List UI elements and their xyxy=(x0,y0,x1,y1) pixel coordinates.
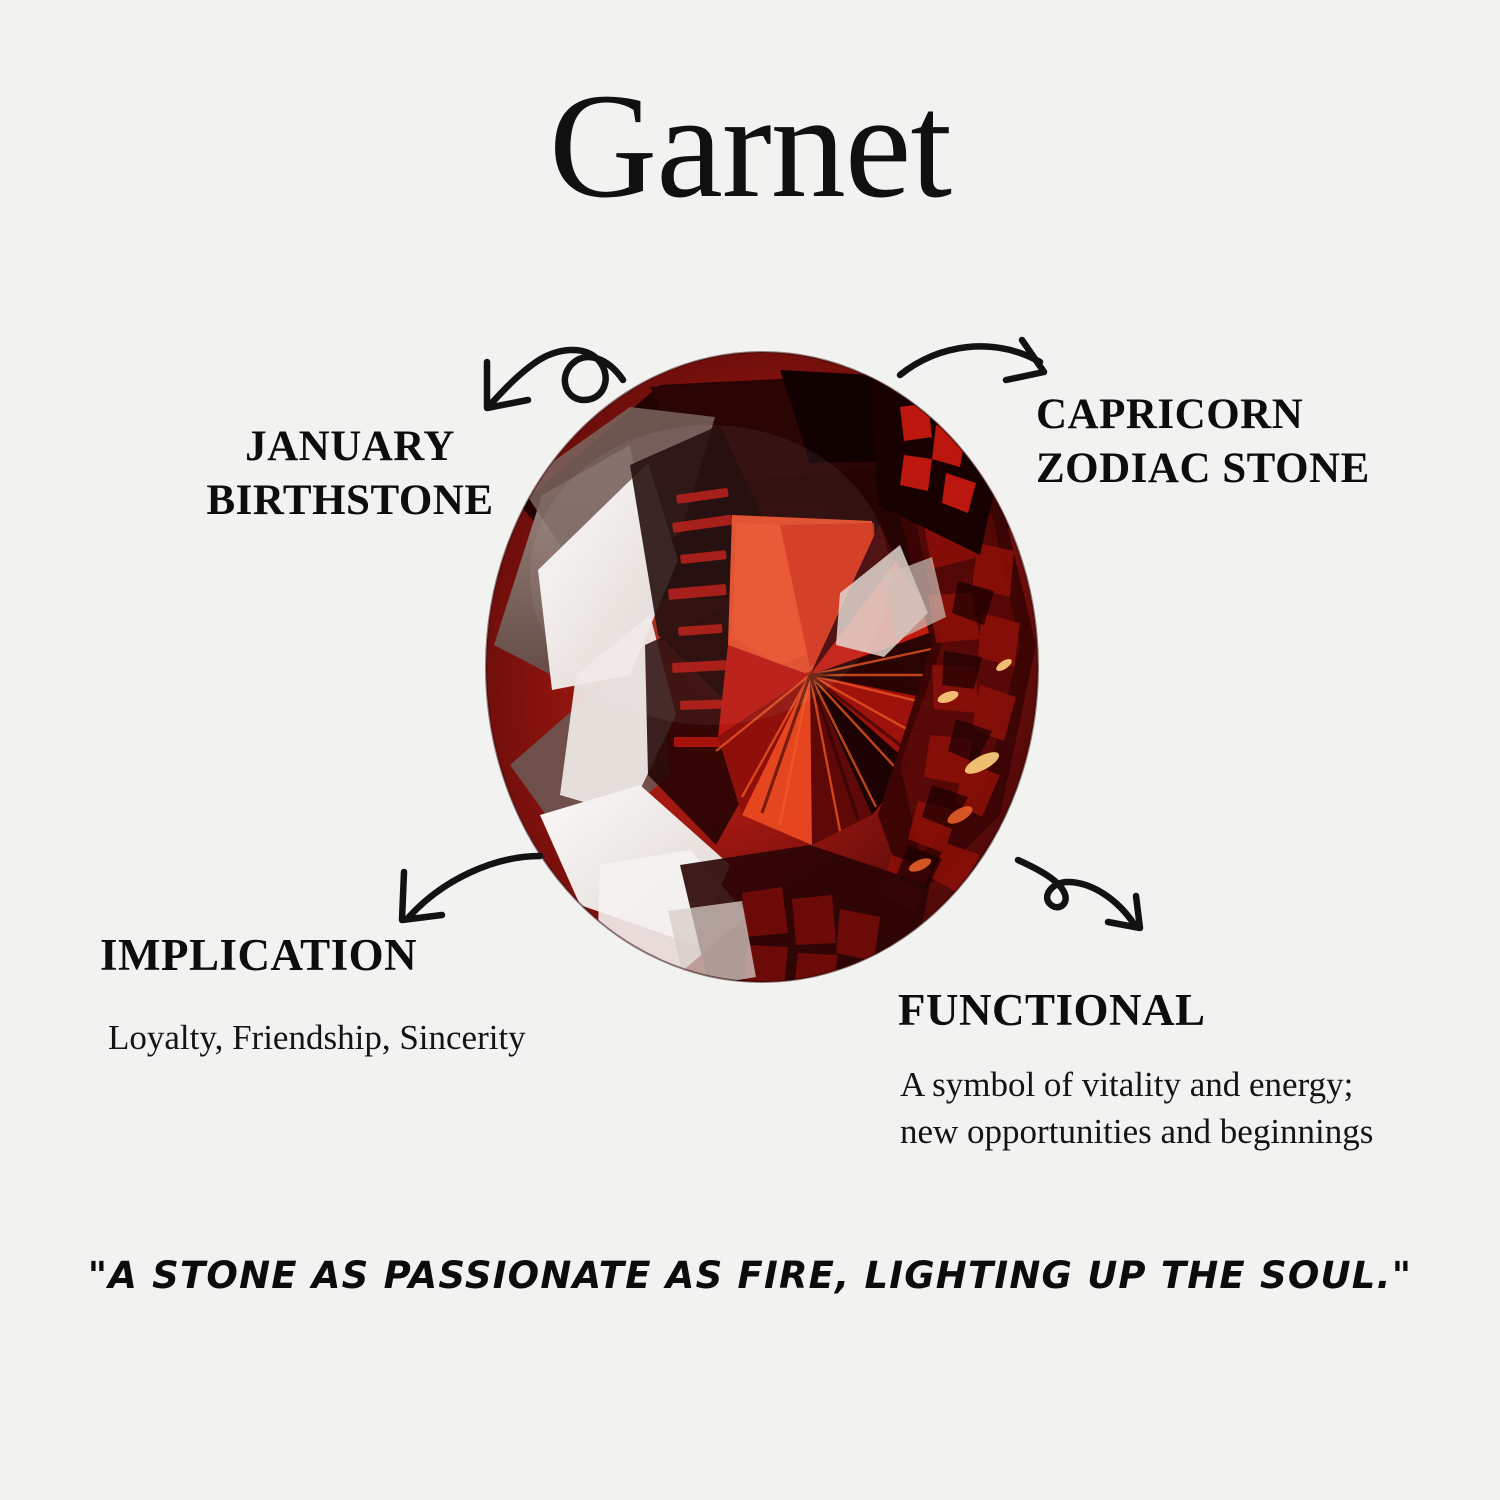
page-title: Garnet xyxy=(0,68,1500,226)
callout-functional-body: A symbol of vitality and energy; new opp… xyxy=(900,1062,1500,1156)
callout-january-birthstone: JANUARY BIRTHSTONE xyxy=(150,420,550,528)
infographic-canvas: Garnet xyxy=(0,0,1500,1500)
capricorn-line-2: ZODIAC STONE xyxy=(1036,445,1370,492)
garnet-gemstone-image xyxy=(480,345,1045,995)
tagline-quote: "A STONE AS PASSIONATE AS FIRE, LIGHTING… xyxy=(0,1254,1500,1297)
functional-body-line-1: A symbol of vitality and energy; xyxy=(900,1065,1353,1104)
callout-capricorn-zodiac-stone: CAPRICORN ZODIAC STONE xyxy=(1036,388,1456,496)
functional-body-line-2: new opportunities and beginnings xyxy=(900,1112,1373,1151)
january-line-1: JANUARY xyxy=(245,423,455,470)
callout-implication-heading: IMPLICATION xyxy=(100,928,417,982)
january-line-2: BIRTHSTONE xyxy=(206,477,493,524)
capricorn-line-1: CAPRICORN xyxy=(1036,391,1303,438)
callout-functional-heading: FUNCTIONAL xyxy=(898,983,1206,1037)
callout-implication-body: Loyalty, Friendship, Sincerity xyxy=(108,1015,526,1061)
